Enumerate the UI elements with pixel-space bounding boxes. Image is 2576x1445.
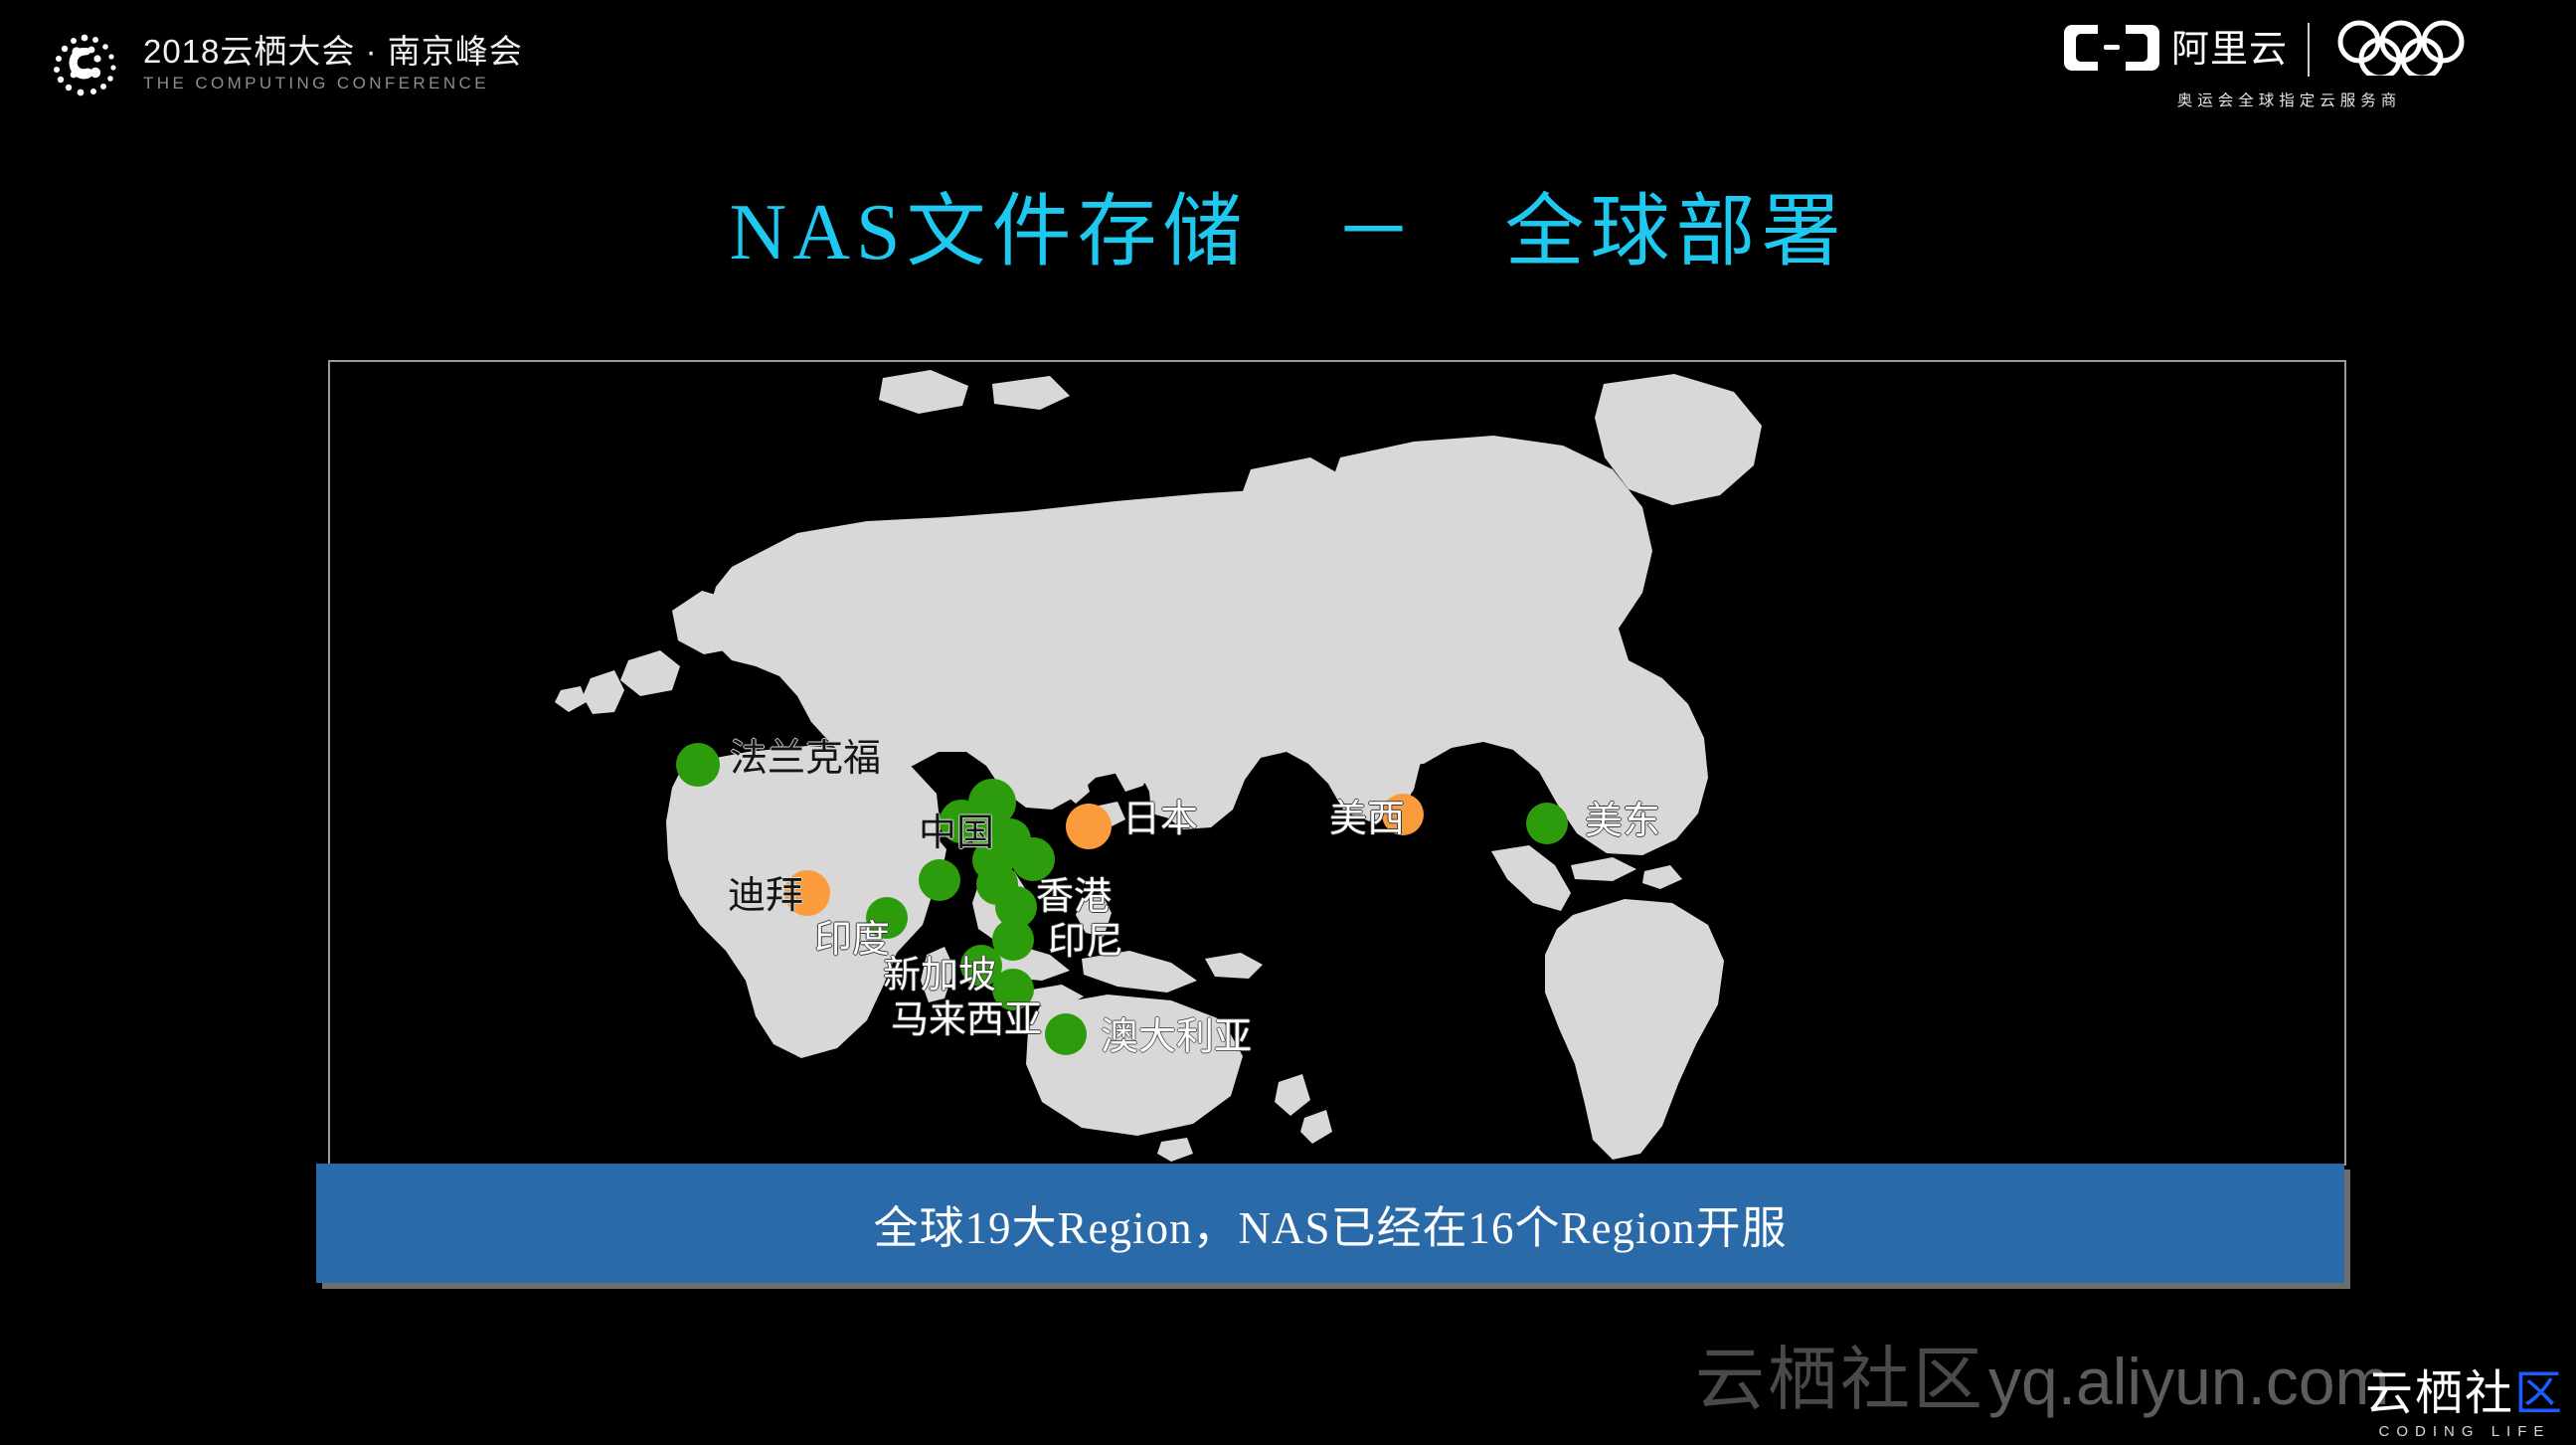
corner-brand-name-part1: 云栖社 (2365, 1367, 2514, 1420)
label-hongkong: 香港 (1036, 878, 1112, 916)
logo-divider (2308, 23, 2310, 77)
corner-brand-name: 云栖社区 (2365, 1370, 2564, 1418)
conference-logo: 2018云栖大会 · 南京峰会 THE COMPUTING CONFERENCE (48, 28, 523, 101)
header-bar: 2018云栖大会 · 南京峰会 THE COMPUTING CONFERENCE… (0, 0, 2576, 139)
label-australia: 澳大利亚 (1101, 1018, 1252, 1056)
brand-tagline: 奥运会全球指定云服务商 (2064, 89, 2514, 110)
aliyun-bracket-icon (2064, 21, 2159, 80)
label-us-east: 美东 (1585, 803, 1660, 840)
marker-china-shanghai (1011, 837, 1055, 881)
conference-title-cn: 2018云栖大会 · 南京峰会 (143, 33, 523, 71)
summary-banner: 全球19大Region，NAS已经在16个Region开服 (316, 1164, 2344, 1283)
page-title: NAS文件存储 － 全球部署 (0, 167, 2576, 282)
label-singapore: 新加坡 (883, 957, 996, 994)
label-india: 印度 (814, 921, 890, 959)
marker-frankfurt (676, 743, 720, 787)
conference-title-en: THE COMPUTING CONFERENCE (143, 71, 523, 96)
conference-logo-text: 2018云栖大会 · 南京峰会 THE COMPUTING CONFERENCE (143, 33, 523, 95)
corner-brand-logo: 云栖社区 CODING LIFE (2365, 1370, 2564, 1439)
aliyun-logo: 阿里云 (2064, 21, 2288, 80)
marker-us-east (1526, 803, 1568, 844)
summary-banner-text: 全球19大Region，NAS已经在16个Region开服 (873, 1191, 1787, 1256)
label-malaysia: 马来西亚 (891, 1001, 1042, 1039)
brand-logo: 阿里云 奥运会全球指定云服务商 (2064, 22, 2514, 110)
watermark-community: 云栖社区 (1695, 1345, 1985, 1414)
label-us-west: 美西 (1329, 801, 1405, 838)
brand-logo-row: 阿里云 (2064, 22, 2514, 78)
marker-japan (1066, 804, 1112, 849)
label-indonesia: 印尼 (1048, 923, 1123, 961)
computing-conference-dot-icon (48, 28, 121, 101)
corner-brand-tagline: CODING LIFE (2365, 1424, 2564, 1439)
watermark-url: yq.aliyun.com (1988, 1349, 2390, 1414)
label-frankfurt: 法兰克福 (730, 740, 881, 778)
label-dubai: 迪拜 (728, 877, 803, 915)
label-china: 中国 (919, 814, 994, 852)
aliyun-name-cn: 阿里云 (2171, 31, 2288, 69)
marker-australia (1045, 1013, 1087, 1055)
label-japan: 日本 (1122, 801, 1198, 838)
olympic-rings-icon (2329, 20, 2514, 81)
marker-china-chengdu (919, 859, 960, 901)
corner-brand-name-accent: 区 (2514, 1367, 2564, 1420)
world-map-image (330, 362, 2344, 1164)
world-map-panel: 法兰克福 中国 迪拜 印度 日本 香港 印尼 新加坡 马来西亚 澳大利亚 美西 … (328, 360, 2346, 1166)
